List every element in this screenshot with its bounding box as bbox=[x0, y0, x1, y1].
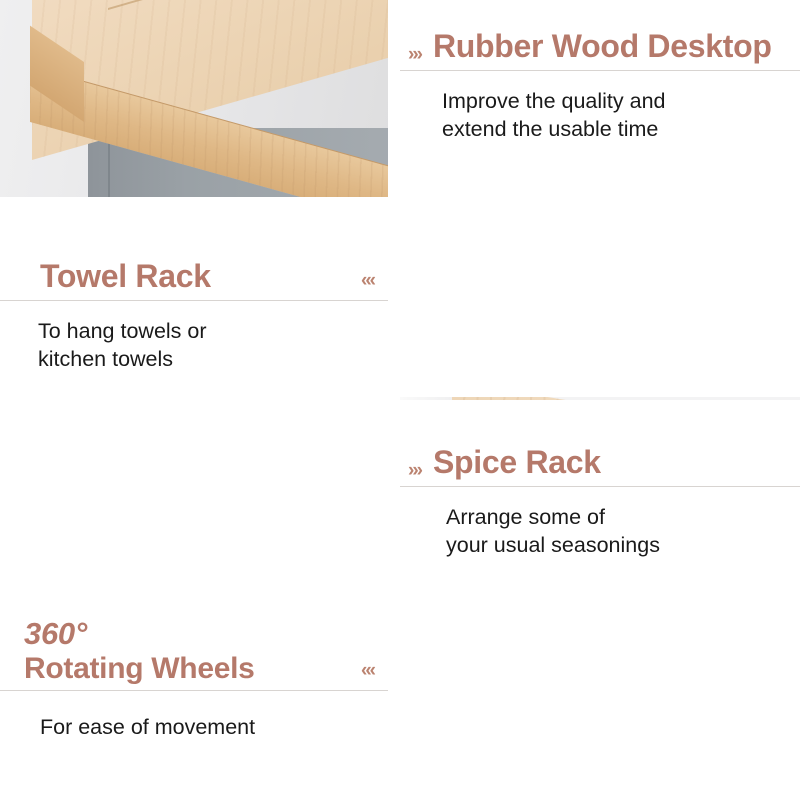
feature-body-rubber-wood-desktop: Improve the quality and extend the usabl… bbox=[442, 87, 800, 144]
heading-row-rotating-wheels: 360° Rotating Wheels ‹‹‹ bbox=[0, 600, 388, 684]
feature-text-towel-rack: Towel Rack ‹‹‹ To hang towels or kitchen… bbox=[0, 200, 388, 397]
feature-body-towel-rack: To hang towels or kitchen towels bbox=[38, 317, 388, 374]
feature-text-spice-rack: ››› Spice Rack Arrange some of your usua… bbox=[400, 400, 800, 597]
cabinet-edge bbox=[108, 138, 110, 197]
feature-text-rotating-wheels: 360° Rotating Wheels ‹‹‹ For ease of mov… bbox=[0, 600, 388, 800]
chevron-right-icon: ››› bbox=[408, 461, 421, 480]
heading-divider-rule bbox=[0, 690, 388, 691]
heading-row-spice-rack: ››› Spice Rack bbox=[400, 400, 800, 480]
chevron-left-icon: ‹‹‹ bbox=[361, 661, 374, 680]
feature-heading-rubber-wood-desktop: Rubber Wood Desktop bbox=[433, 30, 772, 64]
heading-divider-rule bbox=[0, 300, 388, 301]
heading-row-towel-rack: Towel Rack ‹‹‹ bbox=[0, 200, 388, 294]
feature-heading-360-degrees: 360° bbox=[24, 618, 255, 651]
feature-body-rotating-wheels: For ease of movement bbox=[40, 713, 388, 741]
feature-heading-towel-rack: Towel Rack bbox=[40, 260, 211, 294]
feature-body-spice-rack: Arrange some of your usual seasonings bbox=[446, 503, 800, 560]
feature-image-rubber-wood-desktop bbox=[0, 0, 388, 197]
chevron-right-icon: ››› bbox=[408, 45, 421, 64]
feature-text-rubber-wood-desktop: ››› Rubber Wood Desktop Improve the qual… bbox=[400, 0, 800, 197]
chevron-left-icon: ‹‹‹ bbox=[361, 271, 374, 290]
feature-heading-rotating-wheels: Rotating Wheels bbox=[24, 653, 255, 685]
heading-stack: 360° Rotating Wheels bbox=[24, 618, 255, 684]
feature-heading-spice-rack: Spice Rack bbox=[433, 446, 601, 480]
infographic-board: ››› Rubber Wood Desktop Improve the qual… bbox=[0, 0, 800, 800]
heading-divider-rule bbox=[400, 486, 800, 487]
heading-row-rubber-wood-desktop: ››› Rubber Wood Desktop bbox=[400, 0, 800, 64]
heading-divider-rule bbox=[400, 70, 800, 71]
